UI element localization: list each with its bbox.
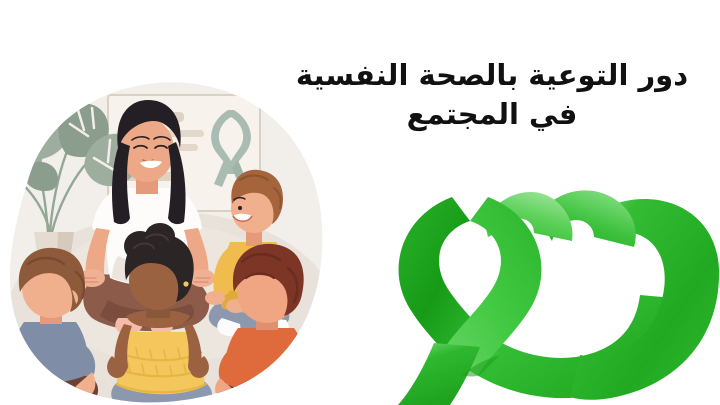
poster-canvas: دور التوعية بالصحة النفسية في المجتمع xyxy=(0,0,720,405)
title-line-2: في المجتمع xyxy=(278,95,706,134)
title-line-1: دور التوعية بالصحة النفسية xyxy=(278,56,706,95)
green-awareness-ribbon-heart xyxy=(388,175,720,405)
poster-title: دور التوعية بالصحة النفسية في المجتمع xyxy=(278,56,706,133)
